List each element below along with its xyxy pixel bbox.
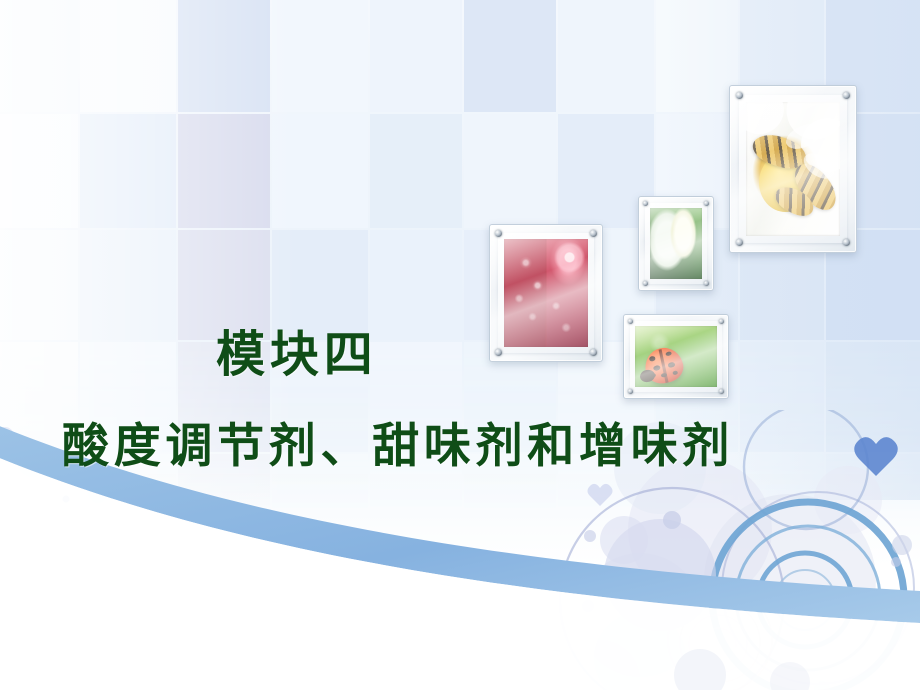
photo-frame-bees-on-flower <box>729 85 857 253</box>
deco-dot <box>892 535 912 555</box>
frame-screw-icon <box>704 201 709 206</box>
frame-screw-icon <box>843 92 850 99</box>
frame-screw-icon <box>843 239 850 246</box>
title-block: 模块四 酸度调节剂、甜味剂和增味剂 <box>0 330 920 470</box>
grid-tile <box>464 114 556 228</box>
grid-tile <box>370 230 462 340</box>
subject-title: 酸度调节剂、甜味剂和增味剂 <box>0 423 920 470</box>
grid-tile <box>464 0 556 112</box>
frame-screw-icon <box>495 230 502 237</box>
deco-dot <box>663 511 681 529</box>
frame-screw-icon <box>590 230 597 237</box>
frame-screw-icon <box>704 281 709 286</box>
frame-screw-icon <box>643 281 648 286</box>
frame-screw-icon <box>628 319 633 324</box>
module-title: 模块四 <box>0 330 920 379</box>
frame-screw-icon <box>643 201 648 206</box>
photo-peace-lily <box>650 208 702 279</box>
frame-screw-icon <box>719 319 724 324</box>
heart-icon <box>588 484 613 506</box>
grid-tile <box>558 0 654 112</box>
presentation-slide: 模块四 酸度调节剂、甜味剂和增味剂 <box>0 0 920 690</box>
deco-bubble <box>600 516 648 564</box>
photo-frame-peace-lily <box>638 196 714 291</box>
deco-dot <box>584 530 596 542</box>
frame-screw-icon <box>736 239 743 246</box>
grid-tile <box>370 0 462 112</box>
grid-tile <box>370 114 462 228</box>
frame-screw-icon <box>736 92 743 99</box>
photo-bees-on-flower <box>746 102 840 236</box>
deco-dot <box>891 557 901 567</box>
